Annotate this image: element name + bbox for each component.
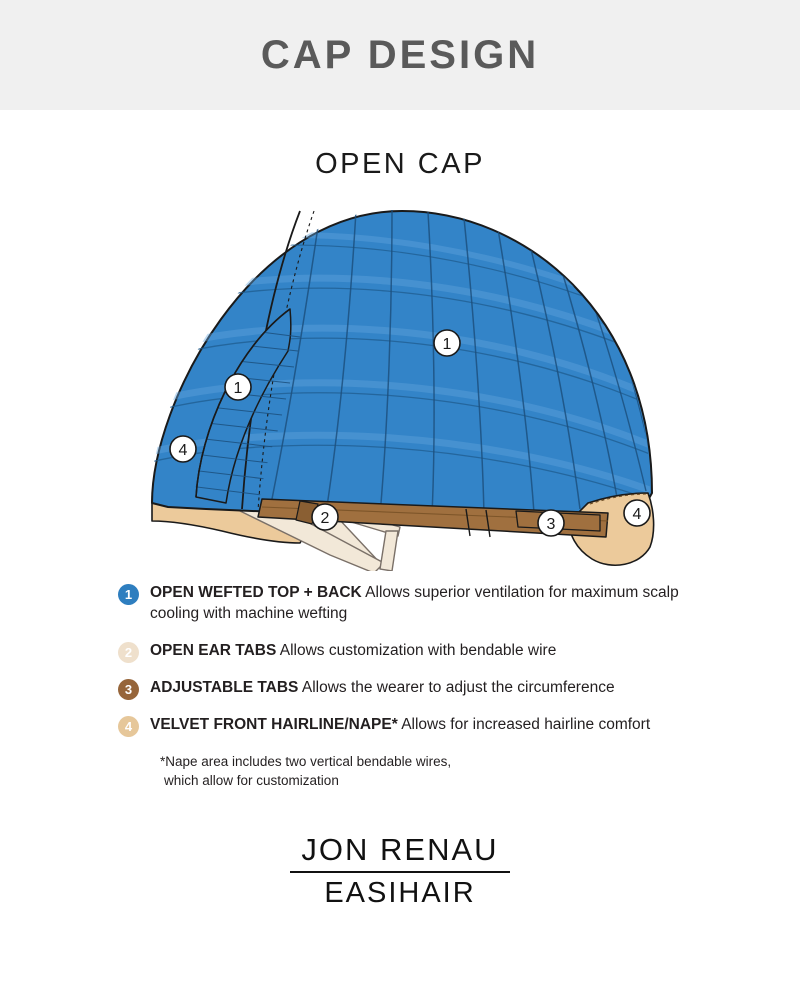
legend-text-1: OPEN WEFTED TOP + BACK Allows superior v… — [150, 583, 695, 625]
legend-term-1: OPEN WEFTED TOP + BACK — [150, 584, 362, 601]
legend-list: 1 OPEN WEFTED TOP + BACK Allows superior… — [0, 583, 800, 791]
marker-1-front: 1 — [225, 374, 251, 400]
legend-text-2: OPEN EAR TABS Allows customization with … — [150, 641, 556, 662]
legend-text-3: ADJUSTABLE TABS Allows the wearer to adj… — [150, 678, 615, 699]
marker-4-nape: 4 — [624, 500, 650, 526]
marker-3-adjustable-tab: 3 — [538, 510, 564, 536]
legend-item-1: 1 OPEN WEFTED TOP + BACK Allows superior… — [118, 583, 800, 625]
legend-badge-3: 3 — [118, 679, 139, 700]
open-cap-illustration: 1 1 2 3 4 4 — [0, 191, 800, 571]
svg-text:2: 2 — [321, 510, 330, 527]
legend-desc-3: Allows the wearer to adjust the circumfe… — [302, 679, 615, 696]
brand-logo: JON RENAU EASIHAIR — [0, 833, 800, 910]
brand-divider — [290, 871, 510, 873]
svg-text:3: 3 — [547, 516, 556, 533]
legend-item-2: 2 OPEN EAR TABS Allows customization wit… — [118, 641, 800, 663]
marker-4-hairline: 4 — [170, 436, 196, 462]
marker-1-back: 1 — [434, 330, 460, 356]
legend-term-3: ADJUSTABLE TABS — [150, 679, 298, 696]
legend-item-4: 4 VELVET FRONT HAIRLINE/NAPE* Allows for… — [118, 715, 800, 737]
legend-badge-1: 1 — [118, 584, 139, 605]
svg-text:1: 1 — [443, 336, 452, 353]
legend-text-4: VELVET FRONT HAIRLINE/NAPE* Allows for i… — [150, 715, 650, 736]
brand-name-primary: JON RENAU — [0, 833, 800, 867]
cap-body-wefted — [146, 210, 664, 517]
legend-item-3: 3 ADJUSTABLE TABS Allows the wearer to a… — [118, 678, 800, 700]
brand-name-secondary: EASIHAIR — [0, 878, 800, 910]
legend-desc-4: Allows for increased hairline comfort — [401, 716, 650, 733]
footnote-line-1: *Nape area includes two vertical bendabl… — [160, 752, 800, 772]
subtitle-container: OPEN CAP — [0, 148, 800, 181]
page-header: CAP DESIGN — [0, 0, 800, 110]
legend-footnote: *Nape area includes two vertical bendabl… — [118, 752, 800, 791]
legend-badge-4: 4 — [118, 716, 139, 737]
svg-text:1: 1 — [234, 380, 243, 397]
legend-term-2: OPEN EAR TABS — [150, 642, 276, 659]
legend-desc-2: Allows customization with bendable wire — [280, 642, 557, 659]
legend-badge-2: 2 — [118, 642, 139, 663]
svg-text:4: 4 — [633, 506, 642, 523]
cap-diagram: 1 1 2 3 4 4 — [0, 191, 800, 571]
footnote-line-2: which allow for customization — [160, 771, 800, 791]
cap-type-title: OPEN CAP — [315, 148, 485, 180]
svg-text:4: 4 — [179, 442, 188, 459]
legend-term-4: VELVET FRONT HAIRLINE/NAPE* — [150, 716, 398, 733]
marker-2-ear-tab: 2 — [312, 504, 338, 530]
page-title: CAP DESIGN — [261, 35, 539, 75]
